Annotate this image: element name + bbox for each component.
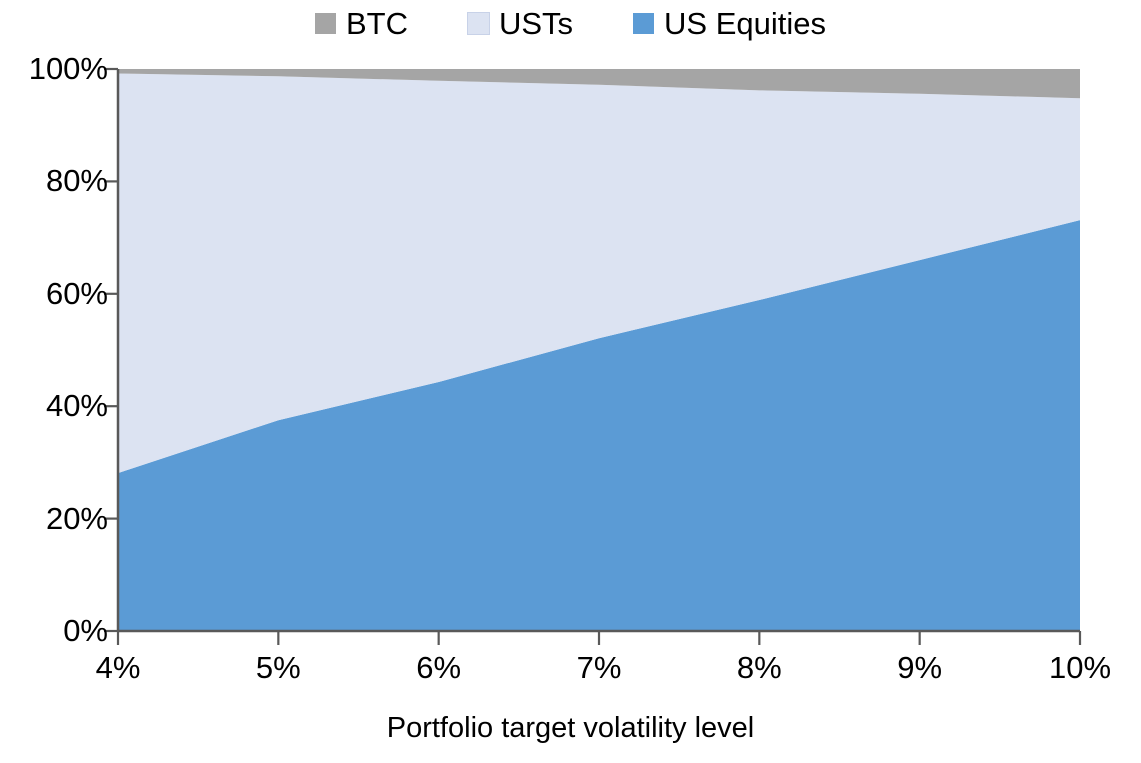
x-tick-label: 9% — [860, 652, 980, 683]
x-tick-label: 5% — [218, 652, 338, 683]
x-tick-label: 8% — [699, 652, 819, 683]
x-tick-label: 6% — [379, 652, 499, 683]
x-tick-label: 4% — [58, 652, 178, 683]
x-axis-tick-labels: 4%5%6%7%8%9%10% — [0, 0, 1141, 763]
x-axis-title: Portfolio target volatility level — [0, 712, 1141, 744]
stacked-area-chart: BTC USTs US Equities 100%80%60%40%20%0% … — [0, 0, 1141, 763]
x-tick-label: 7% — [539, 652, 659, 683]
x-tick-label: 10% — [1020, 652, 1140, 683]
